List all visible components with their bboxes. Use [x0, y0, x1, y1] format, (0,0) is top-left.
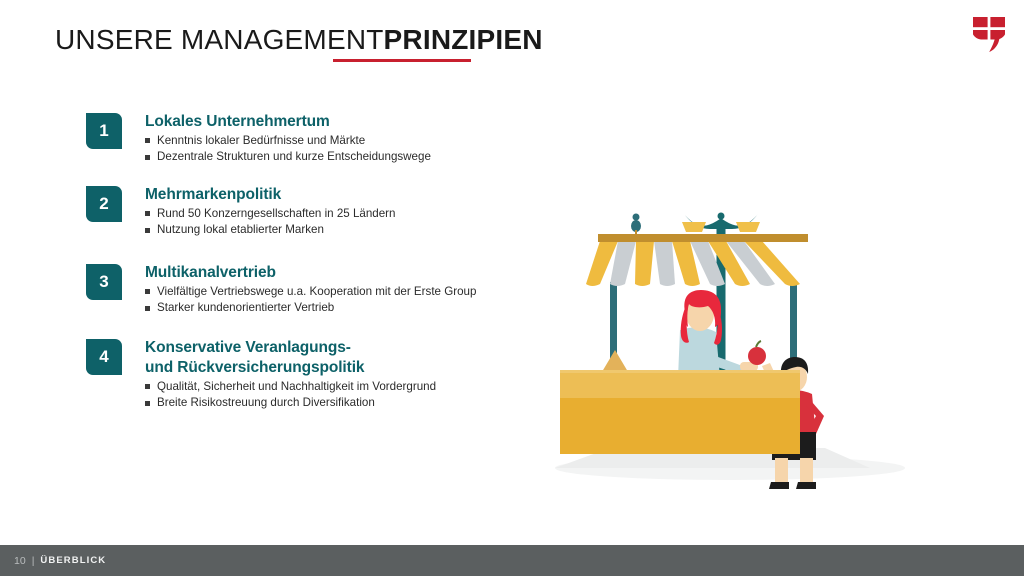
market-stall-graphic	[540, 196, 960, 496]
principle-item-3: 3 Multikanalvertrieb Vielfältige Vertrie…	[86, 264, 556, 339]
vig-shield-icon	[969, 13, 1009, 55]
principle-body-1: Lokales Unternehmertum Kenntnis lokaler …	[145, 113, 556, 166]
principle-title-4-line2: und Rückversicherungspolitik	[145, 359, 556, 378]
principle-number-badge-1: 1	[86, 113, 122, 149]
title-regular-part: UNSERE MANAGEMENT	[55, 24, 384, 55]
principle-body-4: Konservative Veranlagungs- und Rückversi…	[145, 339, 556, 412]
principle-number-badge-3: 3	[86, 264, 122, 300]
principle-title-1: Lokales Unternehmertum	[145, 113, 556, 132]
principle-bullets-2: Rund 50 Konzerngesellschaften in 25 Länd…	[145, 206, 556, 239]
slide-canvas: UNSERE MANAGEMENTPRINZIPIEN 1 Lokales Un…	[0, 0, 1024, 576]
bullet-item: Kenntnis lokaler Bedürfnisse und Märkte	[145, 133, 556, 149]
footer-section-label: ÜBERBLICK	[40, 555, 106, 566]
principle-title-2: Mehrmarkenpolitik	[145, 186, 556, 205]
bullet-item: Dezentrale Strukturen und kurze Entschei…	[145, 149, 556, 165]
footer-page-number: 10	[14, 555, 26, 567]
apple-icon	[748, 341, 766, 365]
principle-item-2: 2 Mehrmarkenpolitik Rund 50 Konzerngesel…	[86, 186, 556, 264]
bullet-item: Starker kundenorientierter Vertrieb	[145, 300, 556, 316]
principle-title-4-line1: Konservative Veranlagungs-	[145, 339, 556, 358]
bullet-item: Breite Risikostreuung durch Diversifikat…	[145, 395, 556, 411]
principles-list: 1 Lokales Unternehmertum Kenntnis lokale…	[86, 113, 556, 419]
title-text: UNSERE MANAGEMENTPRINZIPIEN	[55, 26, 543, 54]
vig-logo	[969, 13, 1009, 55]
stall-counter	[560, 370, 800, 454]
title-underline	[333, 59, 471, 62]
bullet-item: Qualität, Sicherheit und Nachhaltigkeit …	[145, 379, 556, 395]
principle-item-4: 4 Konservative Veranlagungs- und Rückver…	[86, 339, 556, 419]
market-stall-illustration	[540, 196, 960, 496]
page-title: UNSERE MANAGEMENTPRINZIPIEN	[55, 26, 543, 54]
footer-separator: |	[32, 555, 35, 567]
bullet-item: Vielfältige Vertriebswege u.a. Kooperati…	[145, 284, 556, 300]
slide-footer: 10 | ÜBERBLICK	[0, 545, 1024, 576]
principle-title-3: Multikanalvertrieb	[145, 264, 556, 283]
principle-body-3: Multikanalvertrieb Vielfältige Vertriebs…	[145, 264, 556, 317]
bird-ornament-icon	[631, 214, 641, 236]
principle-number-badge-2: 2	[86, 186, 122, 222]
title-bold-part: PRINZIPIEN	[384, 24, 543, 55]
principle-number-badge-4: 4	[86, 339, 122, 375]
principle-bullets-1: Kenntnis lokaler Bedürfnisse und Märkte …	[145, 133, 556, 166]
principle-item-1: 1 Lokales Unternehmertum Kenntnis lokale…	[86, 113, 556, 186]
principle-bullets-3: Vielfältige Vertriebswege u.a. Kooperati…	[145, 284, 556, 317]
principle-body-2: Mehrmarkenpolitik Rund 50 Konzerngesells…	[145, 186, 556, 239]
bullet-item: Rund 50 Konzerngesellschaften in 25 Länd…	[145, 206, 556, 222]
principle-bullets-4: Qualität, Sicherheit und Nachhaltigkeit …	[145, 379, 556, 412]
bullet-item: Nutzung lokal etablierter Marken	[145, 222, 556, 238]
stall-awning	[576, 234, 830, 286]
